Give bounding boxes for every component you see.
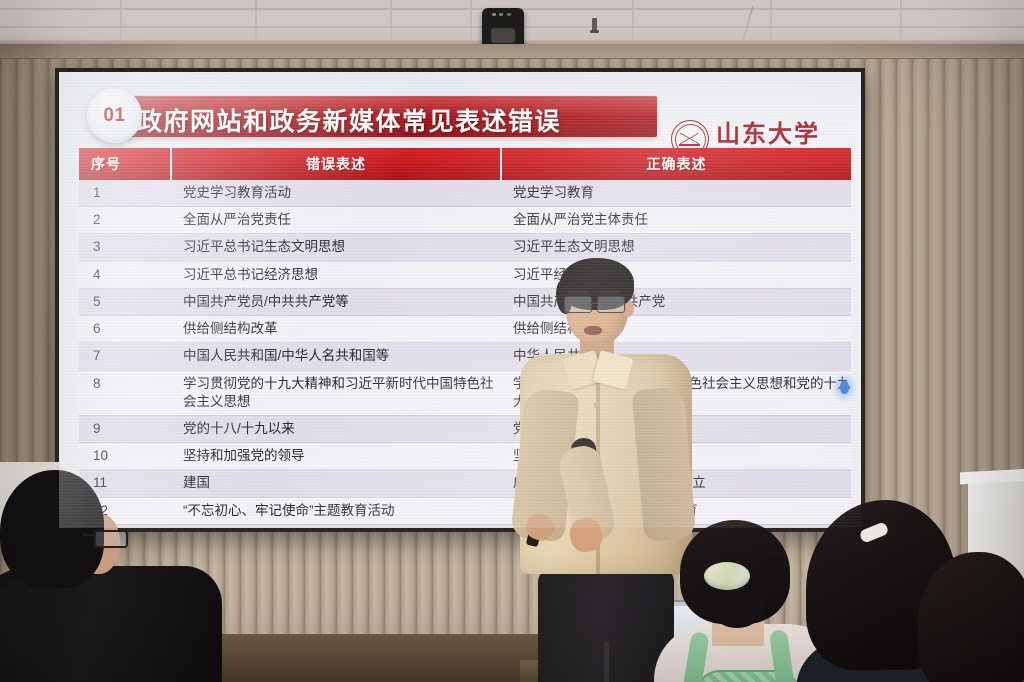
audience-center-scrunchie [704,562,750,590]
presenter-glasses-icon [564,296,632,311]
projection-screen-frame: 政府网站和政务新媒体常见表述错误 01 山东大学 SHANDONG UNIVER… [55,68,865,532]
table-row: 3 习近平总书记生态文明思想 习近平生态文明思想 [79,234,851,261]
presenter-mouth [584,326,602,335]
table-header-row: 序号 错误表述 正确表述 [79,148,851,180]
column-header-correct: 正确表述 [501,148,851,180]
cell-no: 6 [79,316,171,343]
table-row: 7 中国人民共和国/中华人名共和国等 中华人民共和国 [79,343,851,370]
projection-screen: 政府网站和政务新媒体常见表述错误 01 山东大学 SHANDONG UNIVER… [59,72,861,528]
cell-wrong: 供给侧结构改革 [171,316,501,343]
cell-no: 2 [79,207,171,234]
table-row: 8 学习贯彻党的十九大精神和习近平新时代中国特色社会主义思想 学习贯彻习近平新时… [79,370,851,415]
cell-no: 10 [79,443,171,470]
audience-left-hair [0,470,104,588]
fire-sprinkler-icon [592,18,597,32]
university-name-cn: 山东大学 [716,122,821,146]
cell-wrong: 中国共产党员/中共共产党等 [171,288,501,315]
cell-no: 5 [79,288,171,315]
lecture-hall-photo: 政府网站和政务新媒体常见表述错误 01 山东大学 SHANDONG UNIVER… [0,0,1024,682]
cell-no: 9 [79,415,171,442]
cell-wrong: 中国人民共和国/中华人名共和国等 [171,343,501,370]
column-header-wrong: 错误表述 [171,148,501,180]
cell-wrong: 学习贯彻党的十九大精神和习近平新时代中国特色社会主义思想 [171,370,501,415]
cell-correct: 党史学习教育 [501,180,851,207]
audience-left-glasses-icon [94,530,128,548]
cell-no: 8 [79,370,171,415]
section-number-badge: 01 [87,88,142,143]
screen-status-dot-icon [840,381,849,394]
table-row: 2 全面从严治党责任 全面从严治党主体责任 [79,207,851,234]
cell-correct: 全面从严治党主体责任 [501,207,851,234]
table-row: 5 中国共产党员/中共共产党等 中国共产党员/中国共产党 [79,288,851,315]
cell-wrong: 党的十八/十九以来 [171,415,501,442]
cell-no: 1 [79,180,171,207]
audience-left [0,470,222,682]
table-row: 4 习近平总书记经济思想 习近平经济思想 [79,261,851,288]
slide-header: 政府网站和政务新媒体常见表述错误 01 山东大学 SHANDONG UNIVER… [59,94,861,140]
cell-no: 4 [79,261,171,288]
table-row: 6 供给侧结构改革 供给侧结构性改革 [79,316,851,343]
table-row: 1 党史学习教育活动 党史学习教育 [79,180,851,207]
cell-wrong: 党史学习教育活动 [171,180,501,207]
audience-right [800,500,1024,682]
cell-wrong: 习近平总书记生态文明思想 [171,234,501,261]
presenter-leg-seam [604,642,609,682]
table-row: 9 党的十八/十九以来 党的十八大/十九大以来 [79,415,851,442]
slide-title: 政府网站和政务新媒体常见表述错误 [137,102,657,138]
cell-no: 7 [79,343,171,370]
table-row: 10 坚持和加强党的领导 坚持和加强党的全面领导 [79,443,851,470]
column-header-no: 序号 [79,148,171,180]
cell-wrong: 坚持和加强党的领导 [171,443,501,470]
cell-no: 3 [79,234,171,261]
cell-wrong: 全面从严治党责任 [171,207,501,234]
cell-wrong: 习近平总书记经济思想 [171,261,501,288]
